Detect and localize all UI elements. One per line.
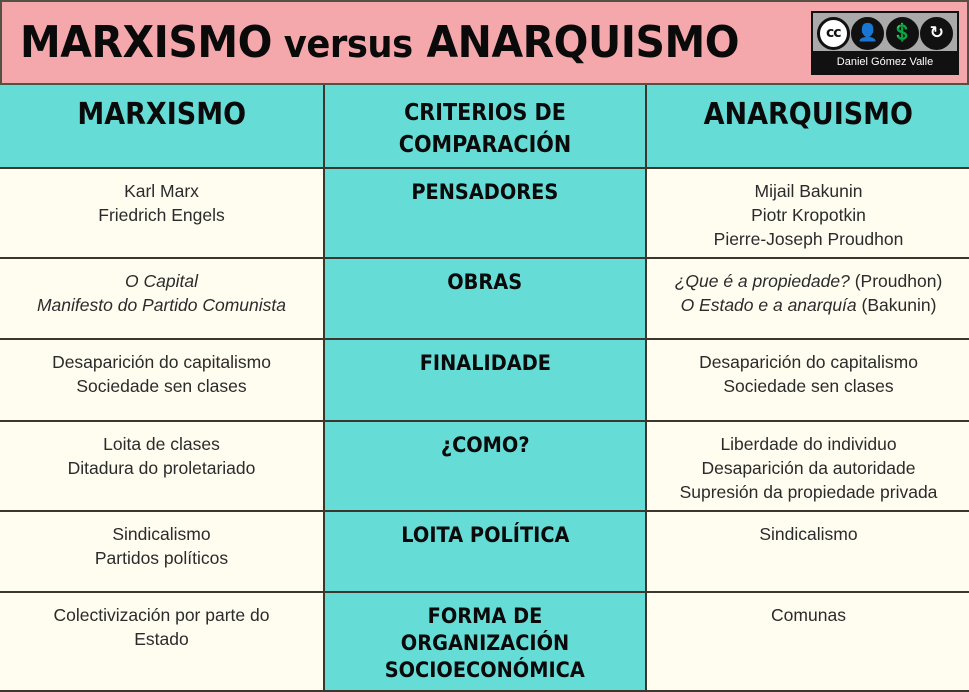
list-item: Piotr Kropotkin: [655, 203, 962, 227]
list-item: Desaparición da autoridade: [655, 456, 962, 480]
criterion-label: OBRAS: [448, 269, 523, 296]
cell-anarquismo-organizacion: Comunas: [646, 592, 969, 691]
criterion-label: PENSADORES: [412, 179, 559, 206]
table-row: Loita de clases Ditadura do proletariado…: [0, 421, 969, 511]
cell-criterio-como: ¿COMO?: [324, 421, 646, 511]
cell-anarquismo-como: Liberdade do individuo Desaparición da a…: [646, 421, 969, 511]
criterion-label: FINALIDADE: [419, 350, 550, 377]
author-credit: Daniel Gómez Valle: [813, 51, 957, 73]
list-item: ¿Que é a propiedade? (Proudhon): [655, 269, 962, 293]
cc-nc-noncommercial-icon: 💲: [886, 17, 919, 50]
list-item: O Capital: [8, 269, 315, 293]
title-versus-word: versus: [284, 22, 413, 66]
list-item: Mijail Bakunin: [655, 179, 962, 203]
table-row: Colectivización por parte do Estado FORM…: [0, 592, 969, 691]
cell-criterio-obras: OBRAS: [324, 258, 646, 339]
cc-sa-sharealike-icon: ↻: [920, 17, 953, 50]
table-row: Sindicalismo Partidos políticos LOITA PO…: [0, 511, 969, 592]
list-item: Sociedade sen clases: [8, 374, 315, 398]
title-part-anarquismo: ANARQUISMO: [426, 17, 739, 68]
work-title: O Estado e a anarquía: [681, 295, 857, 315]
list-item: Sindicalismo: [8, 522, 315, 546]
list-item: Manifesto do Partido Comunista: [8, 293, 315, 317]
header-label-left: MARXISMO: [77, 97, 246, 133]
cell-anarquismo-pensadores: Mijail Bakunin Piotr Kropotkin Pierre-Jo…: [646, 168, 969, 258]
list-item: Sociedade sen clases: [655, 374, 962, 398]
criterion-label: ¿COMO?: [441, 432, 530, 459]
table-row: Desaparición do capitalismo Sociedade se…: [0, 339, 969, 421]
criterion-label: LOITA POLÍTICA: [401, 522, 569, 549]
list-item: Estado: [8, 627, 315, 651]
title-part-marxismo: MARXISMO: [20, 17, 272, 68]
list-item: Desaparición do capitalismo: [8, 350, 315, 374]
list-item: Pierre-Joseph Proudhon: [655, 227, 962, 251]
table-row: O Capital Manifesto do Partido Comunista…: [0, 258, 969, 339]
cell-marxismo-finalidade: Desaparición do capitalismo Sociedade se…: [0, 339, 324, 421]
list-item: O Estado e a anarquía (Bakunin): [655, 293, 962, 317]
title-spacer: [413, 17, 427, 68]
list-item: Loita de clases: [8, 432, 315, 456]
cell-criterio-pensadores: PENSADORES: [324, 168, 646, 258]
header-label-middle: CRITERIOS DE COMPARACIÓN: [348, 97, 622, 161]
cell-marxismo-loita-politica: Sindicalismo Partidos políticos: [0, 511, 324, 592]
cell-marxismo-como: Loita de clases Ditadura do proletariado: [0, 421, 324, 511]
list-item: Desaparición do capitalismo: [655, 350, 962, 374]
header-cell-criterios: CRITERIOS DE COMPARACIÓN: [324, 85, 646, 168]
cell-anarquismo-loita-politica: Sindicalismo: [646, 511, 969, 592]
list-item: Friedrich Engels: [8, 203, 315, 227]
work-author: (Bakunin): [862, 295, 937, 315]
list-item: Comunas: [655, 603, 962, 627]
comparison-table: MARXISMO CRITERIOS DE COMPARACIÓN ANARQU…: [0, 85, 969, 692]
list-item: Partidos políticos: [8, 546, 315, 570]
cell-criterio-loita-politica: LOITA POLÍTICA: [324, 511, 646, 592]
criterion-label-line2: SOCIOECONÓMICA: [385, 657, 585, 684]
list-item: Ditadura do proletariado: [8, 456, 315, 480]
list-item: Sindicalismo: [655, 522, 962, 546]
cc-icon-row: cc 👤 💲 ↻: [813, 14, 957, 52]
creative-commons-badge[interactable]: cc 👤 💲 ↻ Daniel Gómez Valle: [811, 11, 959, 75]
header-label-right: ANARQUISMO: [704, 97, 913, 133]
title-banner: MARXISMO versus ANARQUISMO cc 👤 💲 ↻ Dani…: [0, 0, 969, 85]
cell-anarquismo-obras: ¿Que é a propiedade? (Proudhon) O Estado…: [646, 258, 969, 339]
title-part-versus: [272, 22, 284, 66]
work-title: ¿Que é a propiedade?: [675, 271, 850, 291]
cell-criterio-finalidade: FINALIDADE: [324, 339, 646, 421]
work-author: (Proudhon): [855, 271, 943, 291]
comparison-infographic: MARXISMO versus ANARQUISMO cc 👤 💲 ↻ Dani…: [0, 0, 969, 676]
list-item: Karl Marx: [8, 179, 315, 203]
cc-logo-icon: cc: [817, 17, 850, 50]
cell-marxismo-pensadores: Karl Marx Friedrich Engels: [0, 168, 324, 258]
cc-by-person-icon: 👤: [851, 17, 884, 50]
list-item: Supresión da propiedade privada: [655, 480, 962, 504]
table-row: Karl Marx Friedrich Engels PENSADORES Mi…: [0, 168, 969, 258]
header-cell-marxismo: MARXISMO: [0, 85, 324, 168]
cell-marxismo-obras: O Capital Manifesto do Partido Comunista: [0, 258, 324, 339]
cell-anarquismo-finalidade: Desaparición do capitalismo Sociedade se…: [646, 339, 969, 421]
cell-marxismo-organizacion: Colectivización por parte do Estado: [0, 592, 324, 691]
criterion-label: FORMA DE ORGANIZACIÓN: [345, 603, 625, 657]
page-title: MARXISMO versus ANARQUISMO: [20, 8, 739, 79]
list-item: Liberdade do individuo: [655, 432, 962, 456]
list-item: Colectivización por parte do: [8, 603, 315, 627]
table-header-row: MARXISMO CRITERIOS DE COMPARACIÓN ANARQU…: [0, 85, 969, 168]
header-cell-anarquismo: ANARQUISMO: [646, 85, 969, 168]
cell-criterio-organizacion: FORMA DE ORGANIZACIÓN SOCIOECONÓMICA: [324, 592, 646, 691]
